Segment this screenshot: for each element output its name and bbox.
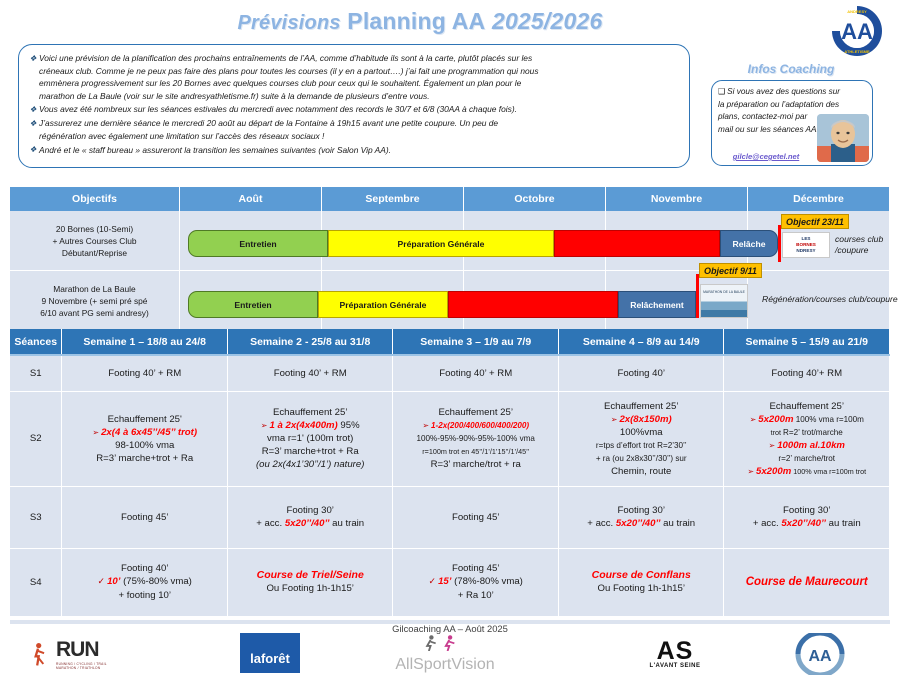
detail-line: + footing 10’: [66, 589, 222, 602]
intro-text-box: ❖ Voici une prévision de la planificatio…: [18, 44, 690, 168]
cell-s1-w1: Footing 40’ + RM: [62, 355, 227, 391]
cell-s1-w2: Footing 40’ + RM: [227, 355, 392, 391]
detail-line: Ou Footing 1h-1h15’: [232, 582, 388, 595]
session-label-s1: S1: [10, 355, 62, 391]
page-title-part3: 2025/2026: [492, 8, 603, 34]
svg-text:AA: AA: [841, 19, 873, 44]
intro-line: marathon de La Baule (voir sur le site a…: [39, 90, 679, 103]
cell-s2-w3: Echauffement 25’ ➢1-2x(200/400/600/400/2…: [393, 391, 559, 486]
intro-line: Voici une prévision de la planification …: [39, 52, 679, 65]
gantt-bar-preparation-specifique: Préparation Spécifique: [554, 230, 720, 257]
detail-line: Ou Footing 1h-1h15’: [563, 582, 719, 595]
intro-line: J’assurerez une dernière séance le mercr…: [39, 117, 679, 130]
svg-text:ANDRESY: ANDRESY: [847, 9, 867, 14]
detail-line: R=3’ marche+trot + Ra: [232, 445, 388, 458]
les-20-bornes-dandresy-badge: LES BORNES NDRESY: [782, 232, 830, 258]
detail-part: au train: [329, 518, 364, 529]
detail-line: Footing 30’: [728, 504, 885, 517]
milestone-stick: [778, 225, 781, 262]
warmup-line: Echauffement 25’: [232, 406, 388, 419]
infos-line: plans, contactez-moi par: [718, 112, 807, 121]
detail-part: au train: [660, 518, 695, 529]
intro-bullet: ❖ André et le « staff bureau » assureron…: [27, 144, 679, 157]
table-row-s1: S1 Footing 40’ + RM Footing 40’ + RM Foo…: [10, 355, 890, 391]
cell-s4-w3: Footing 45’ ✓15’ (78%-80% vma) + Ra 10’: [393, 548, 559, 616]
sessions-col-semaine-4: Semaine 4 – 8/9 au 14/9: [558, 329, 723, 355]
gantt-bar-preparation-generale: Préparation Générale: [328, 230, 554, 257]
planning-col-novembre: Novembre: [606, 187, 748, 211]
infos-line: mail ou sur les séances AA.: [718, 125, 819, 134]
detail-line: Footing 30’: [232, 504, 388, 517]
intro-bullet-text: André et le « staff bureau » assureront …: [39, 144, 679, 157]
intro-bullet: ❖ Vous avez été nombreux sur les séances…: [27, 103, 679, 116]
detail-line: 98-100% vma: [66, 439, 222, 452]
intro-bullet: ❖ J’assurerez une dernière séance le mer…: [27, 117, 679, 142]
sessions-table: Séances Semaine 1 – 18/8 au 24/8 Semaine…: [10, 329, 890, 617]
intro-bullet-text: J’assurerez une dernière séance le mercr…: [39, 117, 679, 142]
interval-line: ➢2x(4 à 6x45’’/45’’ trot): [66, 426, 222, 439]
diamond-bullet-icon: ❖: [27, 117, 39, 130]
detail-red: 10’: [107, 576, 120, 587]
cell-s3-w5: Footing 30’ + acc. 5x20’’/40’’ au train: [724, 486, 890, 548]
diamond-bullet-icon: ❖: [27, 52, 39, 65]
interval-red: 2x(8x150m): [619, 414, 671, 425]
interval-red: 2x(4 à 6x45’’/45’’ trot): [101, 427, 197, 438]
intro-line: André et le « staff bureau » assureront …: [39, 144, 679, 157]
gantt-bar-preparation-specifique: Préparation Spécifique: [448, 291, 618, 318]
detail-line: r=100m trot en 45’’/1’/1’15’’/1’/45’’: [397, 445, 554, 458]
allsportvision-logo: AllSportVision: [365, 633, 525, 675]
cell-s4-w5: Course de Maurecourt: [724, 548, 890, 616]
detail-line: Footing 30’: [563, 504, 719, 517]
warmup-line: Echauffement 25': [66, 413, 222, 426]
interval-red: 1 à 2x(4x400m): [269, 420, 337, 431]
detail-line: + acc. 5x20’’/40’’ au train: [728, 517, 885, 530]
badge-caption: MARATHON DE LA BAULE: [703, 290, 745, 294]
detail-line: r=tps d’effort trot R=2’30’’: [563, 439, 719, 452]
detail-part: + acc.: [256, 518, 285, 529]
as-logo-sub: L'AVANT SEINE: [620, 663, 730, 669]
intro-line: Vous avez été nombreux sur les séances e…: [39, 103, 679, 116]
coach-email-link[interactable]: gilcle@cegetel.net: [712, 152, 820, 161]
race-name: Course de Maurecourt: [728, 576, 885, 589]
detail-red: 5x20’’/40’’: [781, 518, 826, 529]
sessions-col-seances: Séances: [10, 329, 62, 355]
interval-line: ➢1 à 2x(4x400m) 95%: [232, 419, 388, 432]
gantt-bar-entretien: Entretien: [188, 230, 328, 257]
diamond-bullet-icon: ❖: [27, 144, 39, 157]
page-title-part2: Planning AA: [347, 8, 485, 34]
aa-footer-logo-text: AA: [808, 648, 832, 665]
detail-red: 5x20’’/40’’: [616, 518, 661, 529]
note-line: courses club: [835, 234, 883, 245]
planning-row-marathon-la-baule: Marathon de La Baule 9 Novembre (+ semi …: [10, 271, 890, 331]
planning-col-decembre: Décembre: [748, 187, 890, 211]
cell-s3-w1: Footing 45’: [62, 486, 227, 548]
planning-col-octobre: Octobre: [464, 187, 606, 211]
session-label-s4: S4: [10, 548, 62, 616]
interval-red: 1000m al.10km: [777, 440, 845, 451]
arrow-bullet-icon: ➢: [747, 467, 754, 476]
sessions-col-semaine-2: Semaine 2 - 25/8 au 31/8: [227, 329, 392, 355]
allsportvision-logo-text: AllSportVision: [365, 656, 525, 674]
gantt-bar-preparation-generale: Préparation Générale: [318, 291, 448, 318]
detail-red: 15’: [438, 576, 451, 587]
detail-part: R=2’ trot/marche: [783, 428, 843, 437]
arrow-bullet-icon: ➢: [261, 421, 268, 430]
race-name: Course de Triel/Seine: [232, 569, 388, 582]
cell-s3-w2: Footing 30’ + acc. 5x20’’/40’’ au train: [227, 486, 392, 548]
detail-line: + acc. 5x20’’/40’’ au train: [563, 517, 719, 530]
detail-line: + Ra 10’: [397, 589, 554, 602]
detail-part: (75%-80% vma): [120, 576, 191, 587]
cell-s3-w4: Footing 30’ + acc. 5x20’’/40’’ au train: [558, 486, 723, 548]
intro-bullet: ❖ Voici une prévision de la planificatio…: [27, 52, 679, 102]
planning-overview-table: Objectifs Août Septembre Octobre Novembr…: [10, 187, 890, 331]
page-title-part1: Prévisions: [238, 12, 341, 34]
detail-line: + acc. 5x20’’/40’’ au train: [232, 517, 388, 530]
cell-s2-w5: Echauffement 25’ ➢5x200m 100% vma r=100m…: [724, 391, 890, 486]
footer-logos: RUN RUNNING / CYCLING / TRAIL MARATHON /…: [0, 633, 900, 675]
detail-part: au train: [826, 518, 861, 529]
detail-line: trot R=2’ trot/marche: [728, 426, 885, 439]
detail-red: 5x20’’/40’’: [285, 518, 330, 529]
detail-line: + ra (ou 2x8x30’’/30’’) sur: [563, 452, 719, 465]
gantt-bar-relachement: Relâchement: [618, 291, 696, 318]
intro-section: ❖ Voici une prévision de la planificatio…: [0, 42, 900, 182]
warmup-line: Echauffement 25’: [397, 406, 554, 419]
marathon-la-baule-badge: MARATHON DE LA BAULE: [700, 284, 748, 318]
intro-line: emmènera progressivement sur les 20 Born…: [39, 77, 679, 90]
race-name: Course de Conflans: [563, 569, 719, 582]
gantt-note-20-bornes: courses club /coupure: [835, 234, 883, 256]
cell-s4-w2: Course de Triel/Seine Ou Footing 1h-1h15…: [227, 548, 392, 616]
arrow-bullet-icon: ➢: [750, 415, 757, 424]
check-bullet-icon: ✓: [429, 577, 437, 587]
coach-photo: [817, 114, 869, 162]
arrow-bullet-icon: ➢: [92, 428, 99, 437]
checkbox-square-icon: ❑: [718, 87, 725, 96]
badge-line: NDRESY: [783, 248, 829, 254]
cell-s3-w3: Footing 45’: [393, 486, 559, 548]
session-label-s2: S2: [10, 391, 62, 486]
infos-line: la préparation ou l’adaptation des: [718, 100, 839, 109]
interval-line: ➢2x(8x150m): [563, 413, 719, 426]
diamond-bullet-icon: ❖: [27, 103, 39, 116]
detail-part: (78%-80% vma): [451, 576, 522, 587]
cell-s1-w5: Footing 40’+ RM: [724, 355, 890, 391]
detail-line: R=3’ marche/trot + ra: [397, 458, 554, 471]
check-bullet-icon: ✓: [98, 577, 106, 587]
table-row-s2: S2 Echauffement 25' ➢2x(4 à 6x45’’/45’’ …: [10, 391, 890, 486]
detail-part: + acc.: [753, 518, 782, 529]
detail-line: Chemin, route: [563, 465, 719, 478]
sessions-col-semaine-1: Semaine 1 – 18/8 au 24/8: [62, 329, 227, 355]
intro-line: créneaux club. Comme je ne peux pas fair…: [39, 65, 679, 78]
detail-line: Footing 45’: [397, 562, 554, 575]
planning-col-septembre: Septembre: [322, 187, 464, 211]
interval-line: ➢5x200m 100% vma r=100m: [728, 413, 885, 426]
cell-s4-w4: Course de Conflans Ou Footing 1h-1h15’: [558, 548, 723, 616]
irun-logo-text: RUN: [56, 638, 107, 662]
interval-tail: 95%: [338, 420, 360, 431]
gantt-overlay-marathon: Entretien Préparation Générale Préparati…: [10, 271, 890, 331]
intro-line: régénération avec également une limitati…: [39, 130, 679, 143]
cell-s1-w3: Footing 40’ + RM: [393, 355, 559, 391]
gantt-note-marathon: Régénération/courses club/coupure: [762, 294, 898, 305]
infos-line: Si vous avez des questions sur: [727, 87, 840, 96]
interval-tail: 100% vma r=100m trot: [791, 467, 866, 476]
detail-part: + acc.: [587, 518, 616, 529]
detail-line: Footing 40’: [66, 562, 222, 575]
page-header: Prévisions Planning AA 2025/2026 AA ANDR…: [0, 0, 900, 42]
interval-red: 5x200m: [758, 414, 793, 425]
interval-line: ➢1-2x(200/400/600/400/200): [397, 419, 554, 432]
arrow-bullet-icon: ➢: [769, 441, 776, 450]
intro-bullet-text: Vous avez été nombreux sur les séances e…: [39, 103, 679, 116]
milestone-objectif-2311: Objectif 23/11: [781, 214, 849, 229]
detail-line: R=3’ marche+trot + Ra: [66, 452, 222, 465]
detail-line: ✓10’ (75%-80% vma): [66, 575, 222, 589]
aa-logo-footer: AA: [790, 633, 860, 675]
laforet-logo: laforêt: [240, 633, 300, 673]
note-line: Régénération/courses club/coupure: [762, 294, 898, 305]
arrow-bullet-icon: ➢: [422, 421, 429, 430]
as-logo-text: AS: [620, 639, 730, 663]
detail-line: (ou 2x(4x1’30’’/1’) nature): [232, 458, 388, 471]
detail-line: ✓15’ (78%-80% vma): [397, 575, 554, 589]
warmup-line: Echauffement 25’: [728, 400, 885, 413]
cell-s4-w1: Footing 40’ ✓10’ (75%-80% vma) + footing…: [62, 548, 227, 616]
table-row-s3: S3 Footing 45’ Footing 30’ + acc. 5x20’’…: [10, 486, 890, 548]
laforet-logo-text: laforêt: [250, 651, 290, 673]
arrow-bullet-icon: ➢: [611, 415, 618, 424]
irun-logo: RUN RUNNING / CYCLING / TRAIL MARATHON /…: [28, 633, 178, 675]
planning-col-aout: Août: [180, 187, 322, 211]
detail-part: trot: [771, 428, 783, 437]
infos-coaching-title: Infos Coaching: [716, 62, 866, 76]
warmup-line: Echauffement 25’: [563, 400, 719, 413]
cell-s2-w2: Echauffement 25’ ➢1 à 2x(4x400m) 95% vma…: [227, 391, 392, 486]
interval-tail: 100% vma r=100m: [793, 415, 863, 424]
gantt-bar-relache: Relâche: [720, 230, 778, 257]
cell-s2-w1: Echauffement 25' ➢2x(4 à 6x45’’/45’’ tro…: [62, 391, 227, 486]
sessions-col-semaine-5: Semaine 5 – 15/9 au 21/9: [724, 329, 890, 355]
gantt-overlay-20-bornes: Entretien Préparation Générale Préparati…: [10, 211, 890, 271]
interval-red: 1-2x(200/400/600/400/200): [431, 421, 529, 430]
interval-line: ➢5x200m 100% vma r=100m trot: [728, 465, 885, 478]
as-lavant-seine-logo: AS L'AVANT SEINE: [620, 633, 730, 675]
cell-s2-w4: Echauffement 25’ ➢2x(8x150m) 100%vma r=t…: [558, 391, 723, 486]
cell-s1-w4: Footing 40’: [558, 355, 723, 391]
interval-line: ➢1000m al.10km: [728, 439, 885, 452]
sessions-col-semaine-3: Semaine 3 – 1/9 au 7/9: [393, 329, 559, 355]
gantt-bar-entretien: Entretien: [188, 291, 318, 318]
intro-bullet-text: Voici une prévision de la planification …: [39, 52, 679, 102]
irun-logo-sub2: MARATHON / TRIATHLON: [56, 666, 107, 670]
planning-row-20-bornes: 20 Bornes (10-Semi) + Autres Courses Clu…: [10, 211, 890, 271]
page-title: Prévisions Planning AA 2025/2026: [140, 8, 700, 35]
interval-red: 5x200m: [756, 466, 791, 477]
note-line: /coupure: [835, 245, 883, 256]
session-label-s3: S3: [10, 486, 62, 548]
detail-line: r=2’ marche/trot: [728, 452, 885, 465]
planning-header-row: Objectifs Août Septembre Octobre Novembr…: [10, 187, 890, 211]
table-row-s4: S4 Footing 40’ ✓10’ (75%-80% vma) + foot…: [10, 548, 890, 616]
detail-line: vma r=1' (100m trot): [232, 432, 388, 445]
detail-line: 100%vma: [563, 426, 719, 439]
sessions-header-row: Séances Semaine 1 – 18/8 au 24/8 Semaine…: [10, 329, 890, 355]
planning-col-objectifs: Objectifs: [10, 187, 180, 211]
milestone-stick: [696, 274, 699, 318]
detail-line: 100%-95%-90%-95%-100% vma: [397, 432, 554, 445]
infos-coaching-box: ❑Si vous avez des questions sur la prépa…: [711, 80, 873, 166]
milestone-objectif-911: Objectif 9/11: [699, 263, 762, 278]
